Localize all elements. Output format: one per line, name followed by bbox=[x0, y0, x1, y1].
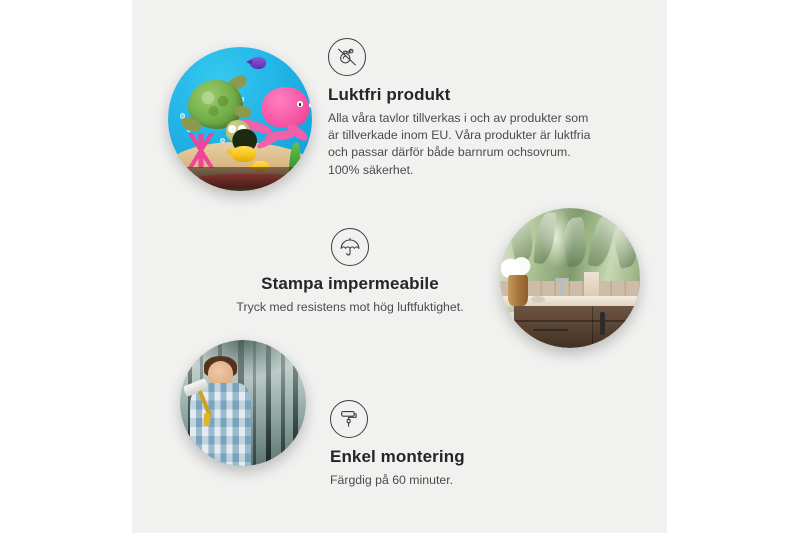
feature-title: Stampa impermeabile bbox=[200, 274, 500, 294]
vase bbox=[508, 275, 528, 306]
cabinet-seam bbox=[592, 306, 594, 348]
yellow-striped-fish bbox=[231, 146, 255, 162]
feature-title: Enkel montering bbox=[330, 447, 590, 467]
sea-floor-rock bbox=[194, 174, 298, 188]
octopus-eye bbox=[297, 101, 303, 106]
leaf-motif bbox=[588, 212, 617, 268]
paint-roller-grip bbox=[204, 413, 210, 426]
feature-description: Alla våra tavlor tillverkas i och av pro… bbox=[328, 110, 598, 179]
infographic-panel: Cartoon underwater scene with a green se… bbox=[132, 0, 667, 533]
pink-coral bbox=[182, 133, 219, 168]
faucet bbox=[560, 278, 564, 298]
feature-block-odour-free: Luktfri produkt Alla våra tavlor tillver… bbox=[328, 38, 598, 179]
leaf-motif bbox=[561, 217, 590, 267]
feature-description: Tryck med resistens mot hög luftfuktighe… bbox=[200, 299, 500, 316]
drawer-handle bbox=[533, 329, 568, 331]
cabinet-seam bbox=[514, 320, 640, 322]
bathroom-vanity-photo: Bathroom vanity with green leaf-pattern … bbox=[500, 208, 640, 348]
bubble-icon bbox=[220, 138, 225, 143]
feature-block-waterproof-print: Stampa impermeabile Tryck med resistens … bbox=[200, 228, 500, 316]
door-handle bbox=[630, 312, 635, 334]
feature-block-easy-installation: Enkel montering Färgdig på 60 minuter. bbox=[330, 400, 590, 489]
wooden-cabinet bbox=[514, 306, 640, 348]
paint-roller-icon bbox=[330, 400, 368, 438]
feature-title: Luktfri produkt bbox=[328, 85, 598, 105]
purple-fish bbox=[250, 57, 266, 69]
feature-description: Färgdig på 60 minuter. bbox=[330, 472, 590, 489]
no-odour-spray-bottle-icon bbox=[328, 38, 366, 76]
leaf-motif bbox=[534, 211, 558, 264]
screenshot-stage: Cartoon underwater scene with a green se… bbox=[0, 0, 800, 533]
underwater-cartoon-photo: Cartoon underwater scene with a green se… bbox=[168, 47, 312, 191]
painter-in-forest-photo: Smiling woman in a plaid shirt holding a… bbox=[180, 340, 306, 466]
door-handle bbox=[600, 312, 605, 334]
umbrella-icon bbox=[331, 228, 369, 266]
pink-octopus bbox=[262, 87, 310, 127]
leaf-motif bbox=[610, 221, 640, 268]
forest-canopy bbox=[180, 340, 306, 378]
